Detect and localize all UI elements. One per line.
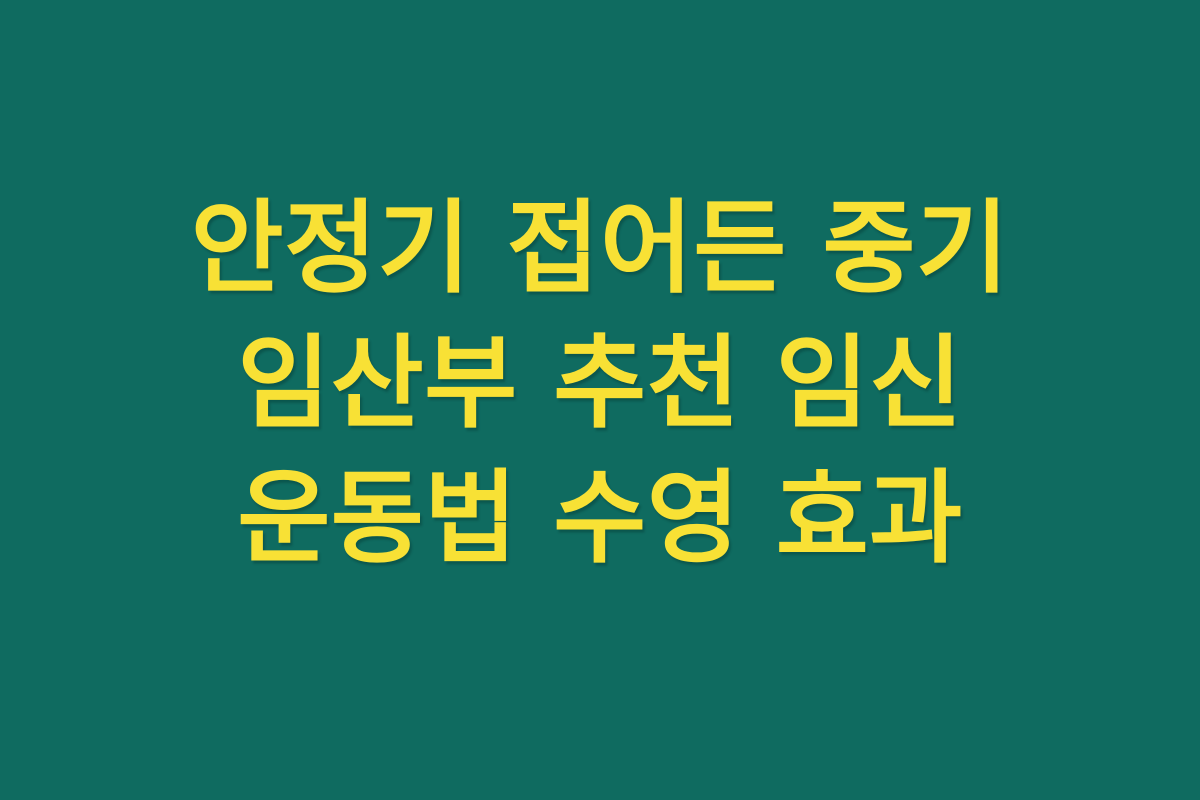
poster-canvas: 안정기 접어든 중기 임산부 추천 임신 운동법 수영 효과 [0, 0, 1200, 800]
headline-text: 안정기 접어든 중기 임산부 추천 임신 운동법 수영 효과 [80, 181, 1120, 586]
